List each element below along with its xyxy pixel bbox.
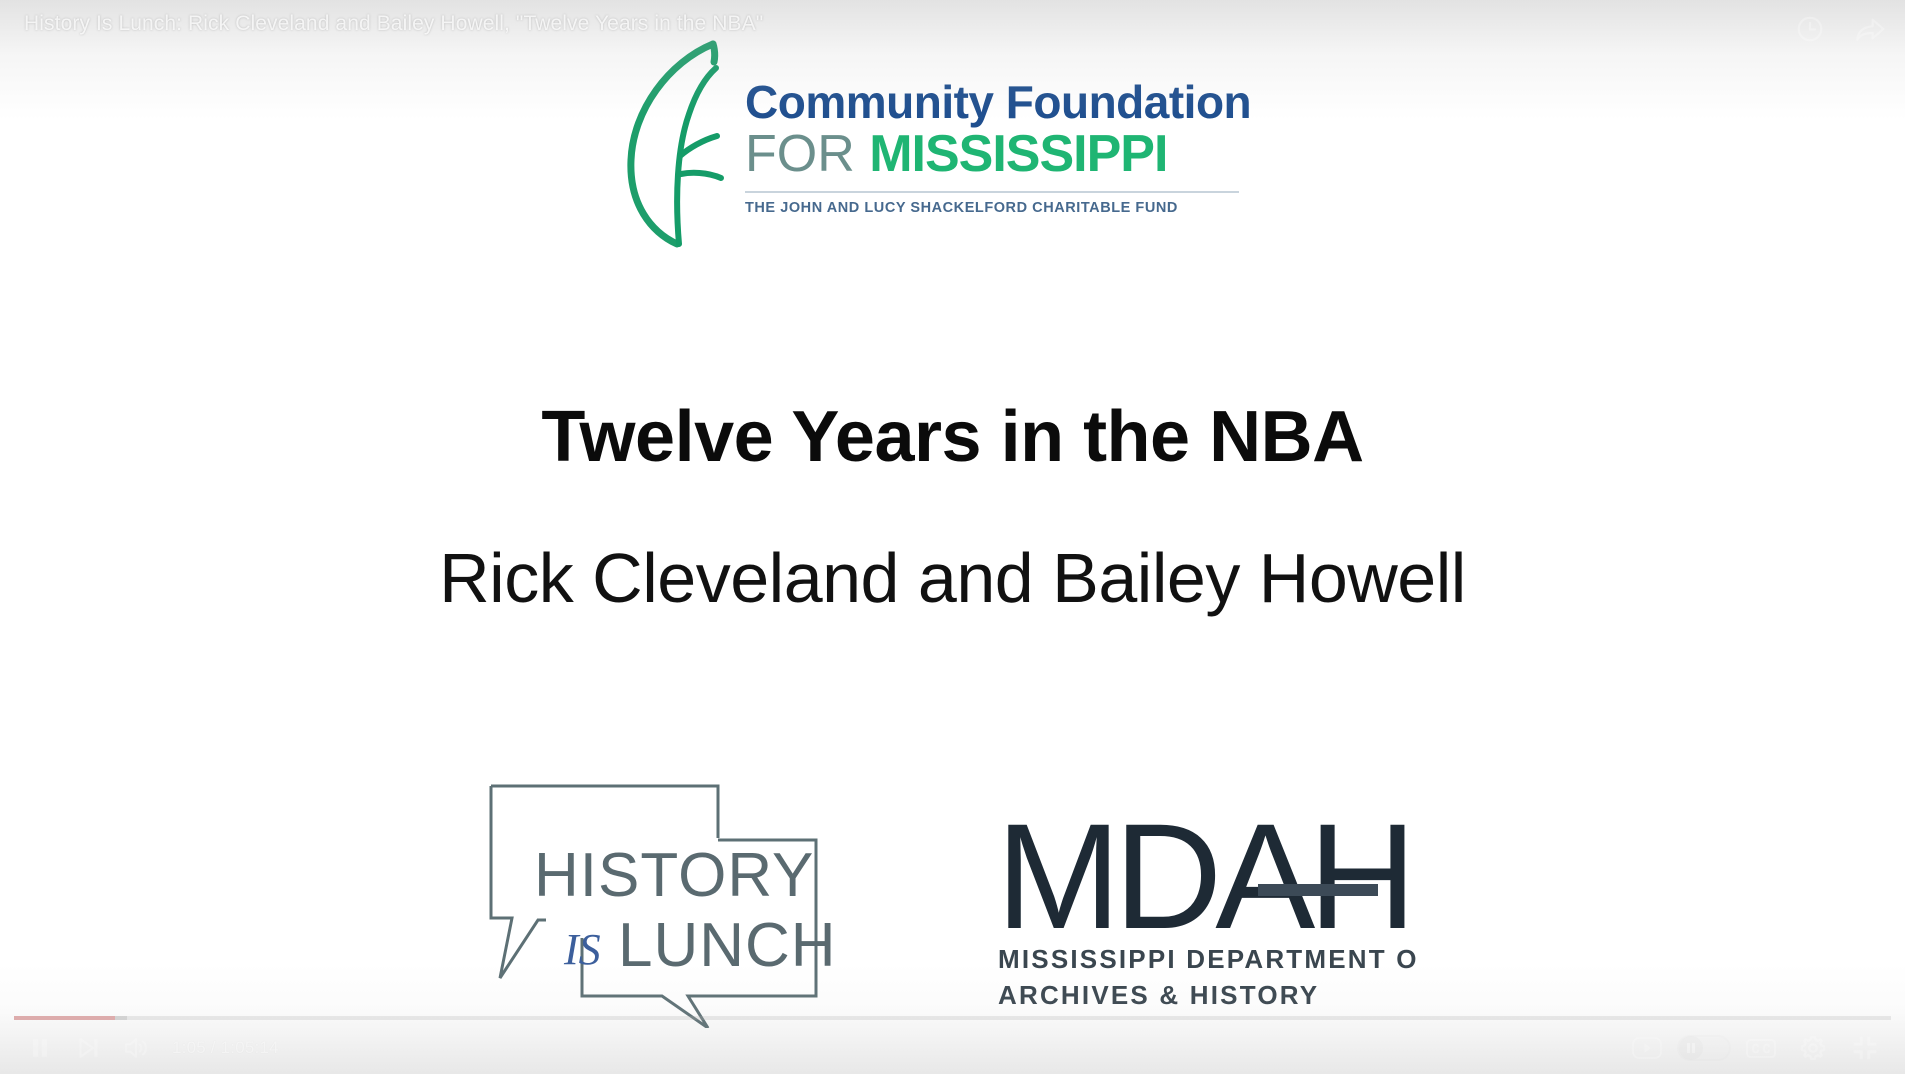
exit-fullscreen-button[interactable] (1841, 1024, 1889, 1072)
volume-button[interactable] (112, 1024, 160, 1072)
watch-on-youtube-button[interactable] (1623, 1024, 1671, 1072)
pause-icon (25, 1033, 55, 1063)
foundation-name-line: Community Foundation (745, 79, 1251, 125)
volume-icon (121, 1033, 151, 1063)
mdah-line-1: MISSISSIPPI DEPARTMENT OF (998, 944, 1416, 974)
subtitles-button[interactable] (1737, 1024, 1785, 1072)
mdah-line-2: ARCHIVES & HISTORY (998, 980, 1319, 1010)
foundation-mississippi-word: MISSISSIPPI (869, 125, 1167, 183)
gear-icon (1798, 1033, 1828, 1063)
autoplay-toggle[interactable] (1675, 1024, 1733, 1072)
right-controls-group (1623, 1024, 1889, 1072)
share-icon (1854, 13, 1886, 45)
top-right-button-group (1787, 6, 1893, 52)
pause-button[interactable] (16, 1024, 64, 1072)
is-word: IS (563, 925, 601, 974)
exit-fullscreen-icon (1850, 1033, 1880, 1063)
foundation-fund-line: THE JOHN AND LUCY SHACKELFORD CHARITABLE… (745, 200, 1251, 216)
closed-captions-icon (1745, 1035, 1777, 1061)
player-controls-bar: 1:05 / 1:05:14 (0, 1022, 1905, 1074)
next-track-icon (73, 1033, 103, 1063)
time-display: 1:05 / 1:05:14 (172, 1038, 279, 1058)
progress-track[interactable] (14, 1016, 1891, 1020)
mdah-logo: MDAH MISSISSIPPI DEPARTMENT OF ARCHIVES … (996, 806, 1416, 1021)
share-button[interactable] (1847, 6, 1893, 52)
foundation-divider (745, 191, 1239, 193)
watch-later-icon (1795, 14, 1825, 44)
youtube-logo-icon (1632, 1035, 1662, 1061)
video-slide-content: Community Foundation FOR MISSISSIPPI THE… (0, 0, 1905, 1074)
settings-button[interactable] (1789, 1024, 1837, 1072)
autoplay-switch-knob (1679, 1036, 1703, 1060)
autoplay-pause-bar-right (1692, 1043, 1695, 1053)
foundation-for-word: FOR (745, 125, 869, 183)
slide-main-title: Twelve Years in the NBA (0, 396, 1905, 478)
foundation-state-line: FOR MISSISSIPPI (745, 127, 1251, 182)
autoplay-pause-bar-left (1687, 1043, 1690, 1053)
video-title[interactable]: History Is Lunch: Rick Cleveland and Bai… (24, 12, 763, 36)
progress-bar[interactable] (0, 1016, 1905, 1021)
lunch-word: LUNCH (618, 911, 837, 980)
foundation-logo-text: Community Foundation FOR MISSISSIPPI THE… (745, 67, 1251, 216)
history-word: HISTORY (534, 841, 814, 910)
mdah-crossbar (1258, 884, 1378, 896)
leaf-mark-icon (617, 36, 739, 248)
slide-sub-title: Rick Cleveland and Bailey Howell (0, 538, 1905, 618)
youtube-video-player[interactable]: Community Foundation FOR MISSISSIPPI THE… (0, 0, 1905, 1074)
community-foundation-logo: Community Foundation FOR MISSISSIPPI THE… (617, 34, 1237, 249)
watch-later-button[interactable] (1787, 6, 1833, 52)
progress-played (14, 1016, 115, 1020)
next-video-button[interactable] (64, 1024, 112, 1072)
mdah-acronym: MDAH (996, 806, 1410, 960)
autoplay-switch-track[interactable] (1677, 1035, 1731, 1061)
history-is-lunch-logo: HISTORY IS LUNCH (486, 778, 906, 1028)
